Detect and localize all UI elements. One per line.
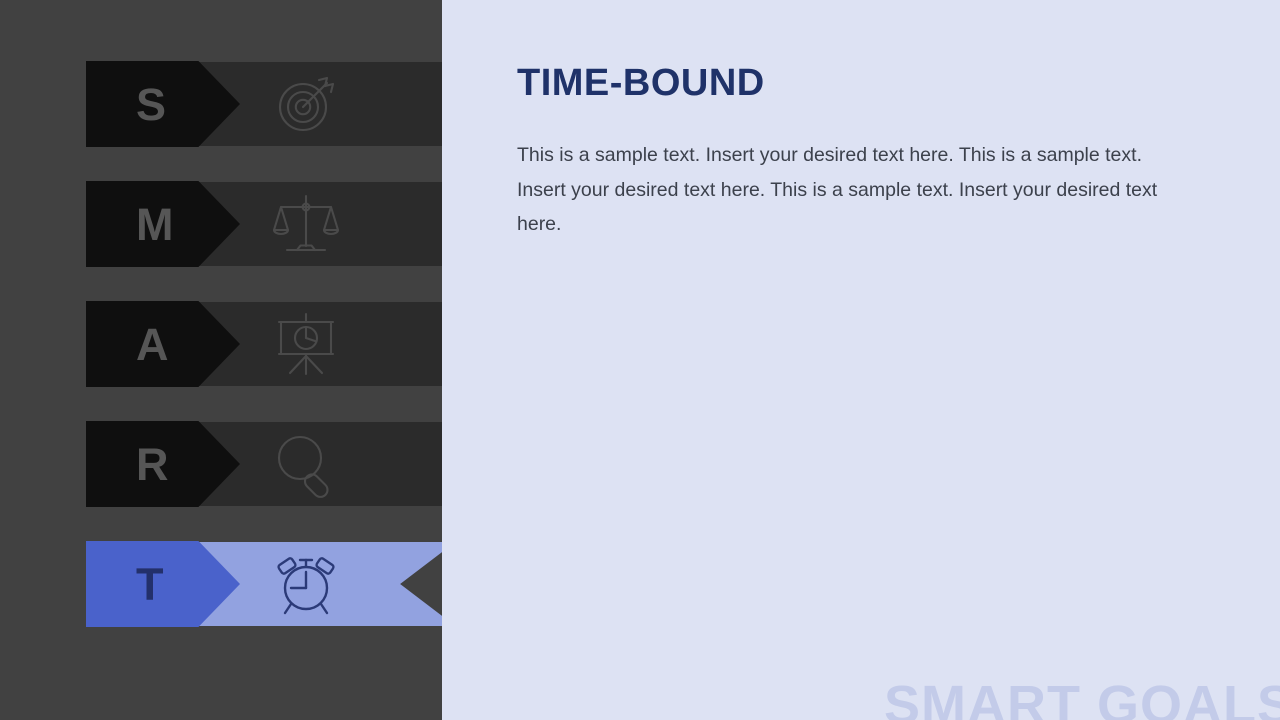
target-icon: [270, 68, 342, 140]
smart-step-time-bound[interactable]: T: [120, 542, 442, 626]
magnifier-icon: [270, 428, 342, 500]
smart-step-measurable[interactable]: M: [120, 182, 442, 266]
smart-step-relevant[interactable]: R: [120, 422, 442, 506]
smart-step-specific[interactable]: S: [120, 62, 442, 146]
alarm-clock-icon: [270, 548, 342, 620]
content-area: TIME-BOUND This is a sample text. Insert…: [517, 64, 1197, 242]
page-title: TIME-BOUND: [517, 64, 1197, 104]
smart-step-attainable[interactable]: A: [120, 302, 442, 386]
step-letter: A: [136, 322, 169, 367]
smart-goals-watermark: SMART GOALS: [884, 674, 1280, 720]
step-letter: M: [136, 202, 174, 247]
presentation-icon: [270, 308, 342, 380]
slide-canvas: S M: [0, 0, 1280, 720]
step-letter: S: [136, 82, 167, 127]
step-letter: R: [136, 442, 169, 487]
scales-icon: [270, 188, 342, 260]
smart-steps-panel: S M: [0, 0, 442, 720]
body-paragraph: This is a sample text. Insert your desir…: [517, 138, 1189, 242]
step-letter: T: [136, 562, 164, 607]
